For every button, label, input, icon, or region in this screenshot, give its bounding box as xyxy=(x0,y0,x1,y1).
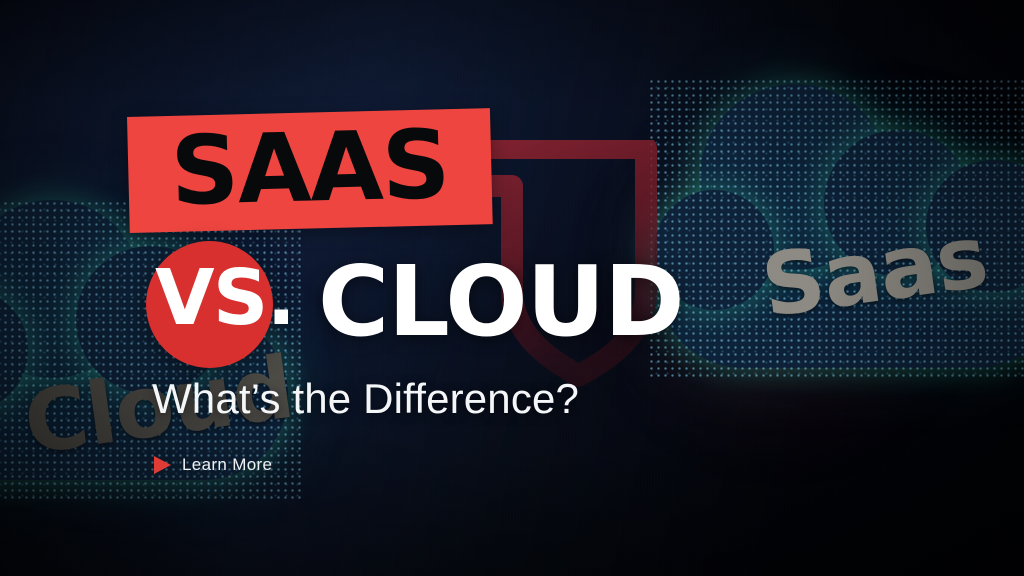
cloud-headline-text: CLOUD xyxy=(318,253,683,350)
play-triangle-icon xyxy=(154,456,171,474)
versus-label: VS. xyxy=(155,260,294,337)
learn-more-button[interactable]: Learn More xyxy=(154,455,272,475)
saas-headline-banner: SAAS xyxy=(127,108,493,233)
saas-headline-text: SAAS xyxy=(170,118,450,220)
promo-banner-canvas: Saas Cloud SAAS VS. CLOUD What’s the Dif… xyxy=(0,0,1024,576)
learn-more-label: Learn More xyxy=(182,455,272,475)
subtitle-text: What’s the Difference? xyxy=(152,375,579,423)
